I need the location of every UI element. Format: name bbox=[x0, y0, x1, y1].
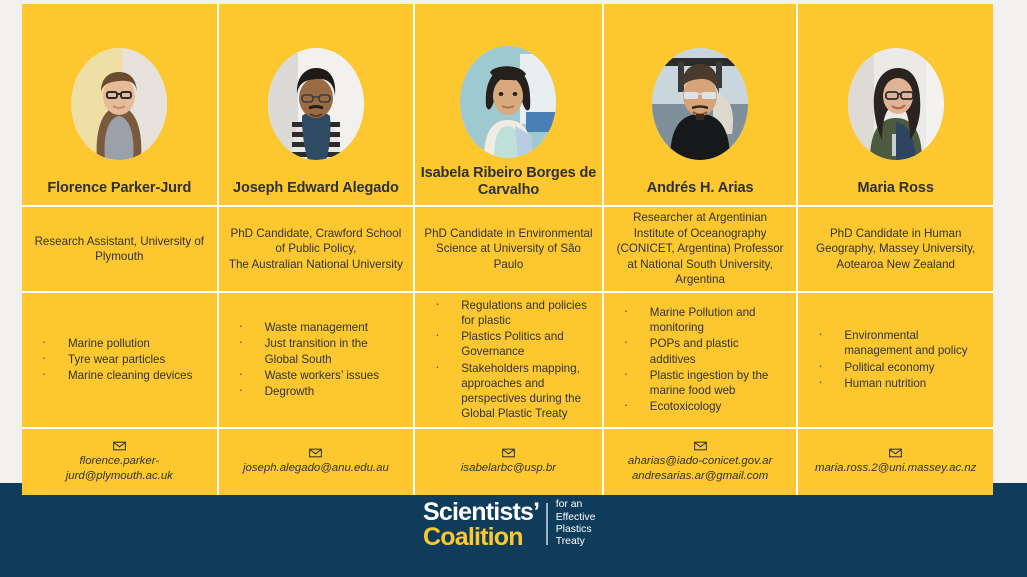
affiliation-text: Research Assistant, University of Plymou… bbox=[30, 234, 209, 265]
logo-line-2: Coalition bbox=[423, 525, 539, 549]
logo-tagline-line-4: Treaty bbox=[556, 536, 596, 548]
table-row-affiliations: Research Assistant, University of Plymou… bbox=[22, 207, 993, 291]
affiliation-cell-0: Research Assistant, University of Plymou… bbox=[22, 207, 217, 291]
topics-list: Marine Pollution and monitoring POPs and… bbox=[620, 305, 787, 414]
logo-tagline-line-2: Effective bbox=[556, 512, 596, 524]
list-item: Waste workers’ issues bbox=[235, 368, 404, 383]
email-cell-2: isabelarbc@usp.br bbox=[415, 429, 602, 495]
list-item: Marine pollution bbox=[38, 336, 207, 351]
list-item: Degrowth bbox=[235, 384, 404, 399]
person-card-1: Joseph Edward Alegado bbox=[219, 4, 414, 205]
list-item: Regulations and policies for plastic bbox=[431, 298, 592, 328]
envelope-icon bbox=[309, 448, 322, 458]
affiliation-cell-1: PhD Candidate, Crawford School of Public… bbox=[219, 207, 414, 291]
email-cell-3: aharias@iado-conicet.gov.ar andresarias.… bbox=[604, 429, 797, 495]
avatar-isabela-ribeiro-borges-de-carvalho bbox=[460, 46, 556, 158]
topics-list: Waste management Just transition in the … bbox=[235, 320, 404, 399]
list-item: Human nutrition bbox=[814, 376, 983, 391]
list-item: Waste management bbox=[235, 320, 404, 335]
topics-cell-0: Marine pollution Tyre wear particles Mar… bbox=[22, 293, 217, 427]
email-cell-1: joseph.alegado@anu.edu.au bbox=[219, 429, 414, 495]
email-text[interactable]: aharias@iado-conicet.gov.ar andresarias.… bbox=[628, 454, 772, 483]
email-cell-4: maria.ross.2@uni.massey.ac.nz bbox=[798, 429, 993, 495]
email-text[interactable]: isabelarbc@usp.br bbox=[461, 461, 556, 476]
person-card-2: Isabela Ribeiro Borges de Carvalho bbox=[415, 4, 602, 205]
person-name: Joseph Edward Alegado bbox=[229, 180, 403, 197]
avatar-joseph-edward-alegado bbox=[268, 48, 364, 160]
topics-cell-3: Marine Pollution and monitoring POPs and… bbox=[604, 293, 797, 427]
person-name: Maria Ross bbox=[854, 180, 938, 197]
logo-tagline-line-3: Plastics bbox=[556, 524, 596, 536]
envelope-icon bbox=[694, 441, 707, 451]
speakers-table: Florence Parker-Jurd bbox=[22, 4, 993, 495]
logo-tagline: for an Effective Plastics Treaty bbox=[556, 499, 596, 549]
list-item: Marine cleaning devices bbox=[38, 368, 207, 383]
topics-list: Marine pollution Tyre wear particles Mar… bbox=[38, 336, 207, 384]
list-item: Tyre wear particles bbox=[38, 352, 207, 367]
avatar-maria-ross bbox=[848, 48, 944, 160]
envelope-icon bbox=[113, 441, 126, 451]
table-row-photos: Florence Parker-Jurd bbox=[22, 4, 993, 205]
list-item: Plastic ingestion by the marine food web bbox=[620, 368, 787, 398]
logo-line-1: Scientists’ bbox=[423, 500, 539, 524]
person-name: Andrés H. Arias bbox=[643, 180, 758, 197]
list-item: Plastics Politics and Governance bbox=[431, 329, 592, 359]
list-item: Just transition in the Global South bbox=[235, 336, 404, 366]
logo-divider bbox=[546, 503, 548, 545]
topics-cell-2: Regulations and policies for plastic Pla… bbox=[415, 293, 602, 427]
list-item: Marine Pollution and monitoring bbox=[620, 305, 787, 335]
table-row-emails: florence.parker-jurd@plymouth.ac.uk jose… bbox=[22, 429, 993, 495]
scientists-coalition-logo: Scientists’ Coalition for an Effective P… bbox=[423, 499, 603, 549]
topics-list: Regulations and policies for plastic Pla… bbox=[431, 298, 592, 422]
avatar-andres-h-arias bbox=[652, 48, 748, 160]
table-row-topics: Marine pollution Tyre wear particles Mar… bbox=[22, 293, 993, 427]
person-card-0: Florence Parker-Jurd bbox=[22, 4, 217, 205]
affiliation-text: PhD Candidate in Human Geography, Massey… bbox=[806, 226, 985, 272]
topics-cell-1: Waste management Just transition in the … bbox=[219, 293, 414, 427]
topics-cell-4: Environmental management and policy Poli… bbox=[798, 293, 993, 427]
email-cell-0: florence.parker-jurd@plymouth.ac.uk bbox=[22, 429, 217, 495]
email-text[interactable]: florence.parker-jurd@plymouth.ac.uk bbox=[28, 454, 211, 483]
list-item: Environmental management and policy bbox=[814, 328, 983, 358]
topics-list: Environmental management and policy Poli… bbox=[814, 328, 983, 391]
list-item: Stakeholders mapping, approaches and per… bbox=[431, 361, 592, 421]
affiliation-text: PhD Candidate in Environmental Science a… bbox=[423, 226, 594, 272]
email-text[interactable]: joseph.alegado@anu.edu.au bbox=[243, 461, 389, 476]
envelope-icon bbox=[502, 448, 515, 458]
avatar-florence-parker-jurd bbox=[71, 48, 167, 160]
affiliation-text: Researcher at Argentinian Institute of O… bbox=[612, 210, 789, 287]
person-card-4: Maria Ross bbox=[798, 4, 993, 205]
person-card-3: Andrés H. Arias bbox=[604, 4, 797, 205]
person-name: Isabela Ribeiro Borges de Carvalho bbox=[415, 165, 602, 199]
email-text[interactable]: maria.ross.2@uni.massey.ac.nz bbox=[815, 461, 976, 476]
logo-wordmark: Scientists’ Coalition bbox=[423, 500, 539, 549]
list-item: POPs and plastic additives bbox=[620, 336, 787, 366]
logo-tagline-line-1: for an bbox=[556, 499, 596, 511]
envelope-icon bbox=[889, 448, 902, 458]
person-name: Florence Parker-Jurd bbox=[43, 180, 195, 197]
list-item: Ecotoxicology bbox=[620, 399, 787, 414]
affiliation-text: PhD Candidate, Crawford School of Public… bbox=[227, 226, 406, 272]
list-item: Political economy bbox=[814, 360, 983, 375]
affiliation-cell-4: PhD Candidate in Human Geography, Massey… bbox=[798, 207, 993, 291]
affiliation-cell-2: PhD Candidate in Environmental Science a… bbox=[415, 207, 602, 291]
affiliation-cell-3: Researcher at Argentinian Institute of O… bbox=[604, 207, 797, 291]
